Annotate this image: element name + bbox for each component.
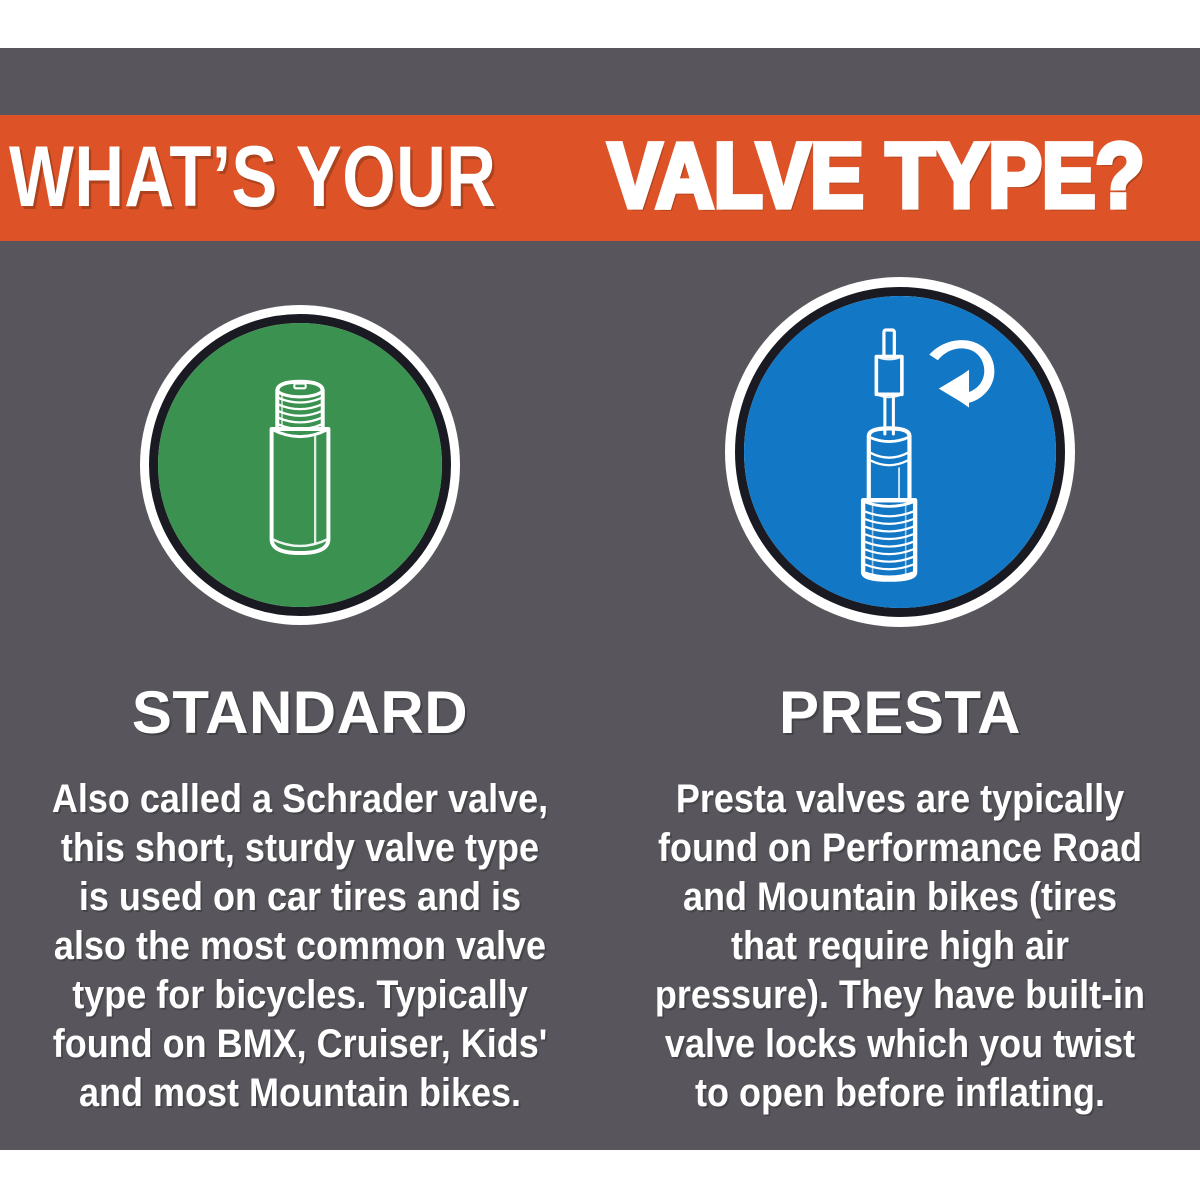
body-standard: Also called a Schrader valve, this short… — [48, 775, 552, 1118]
badge-presta-ring — [735, 287, 1065, 617]
banner-title: WHAT’S YOUR VALVE TYPE? — [9, 132, 1190, 220]
badge-standard — [140, 305, 460, 625]
title-banner: WHAT’S YOUR VALVE TYPE? — [0, 115, 1200, 241]
heading-presta: PRESTA — [779, 683, 1021, 743]
badge-standard-ring — [149, 314, 451, 616]
infographic-poster: WHAT’S YOUR VALVE TYPE? — [0, 0, 1200, 1200]
twist-arrow-icon — [929, 340, 994, 407]
banner-title-part2: VALVE TYPE? — [608, 130, 1144, 222]
column-standard: STANDARD Also called a Schrader valve, t… — [0, 255, 600, 1155]
column-presta: PRESTA Presta valves are typically found… — [600, 255, 1200, 1155]
schrader-valve-icon — [158, 323, 442, 607]
body-presta: Presta valves are typically found on Per… — [648, 775, 1152, 1118]
badge-presta — [725, 277, 1075, 627]
presta-valve-icon — [744, 296, 1056, 608]
valve-comparison-columns: STANDARD Also called a Schrader valve, t… — [0, 255, 1200, 1155]
banner-title-part1: WHAT’S YOUR — [9, 134, 496, 220]
heading-standard: STANDARD — [132, 683, 468, 743]
badge-presta-fill — [744, 296, 1056, 608]
badge-standard-fill — [158, 323, 442, 607]
